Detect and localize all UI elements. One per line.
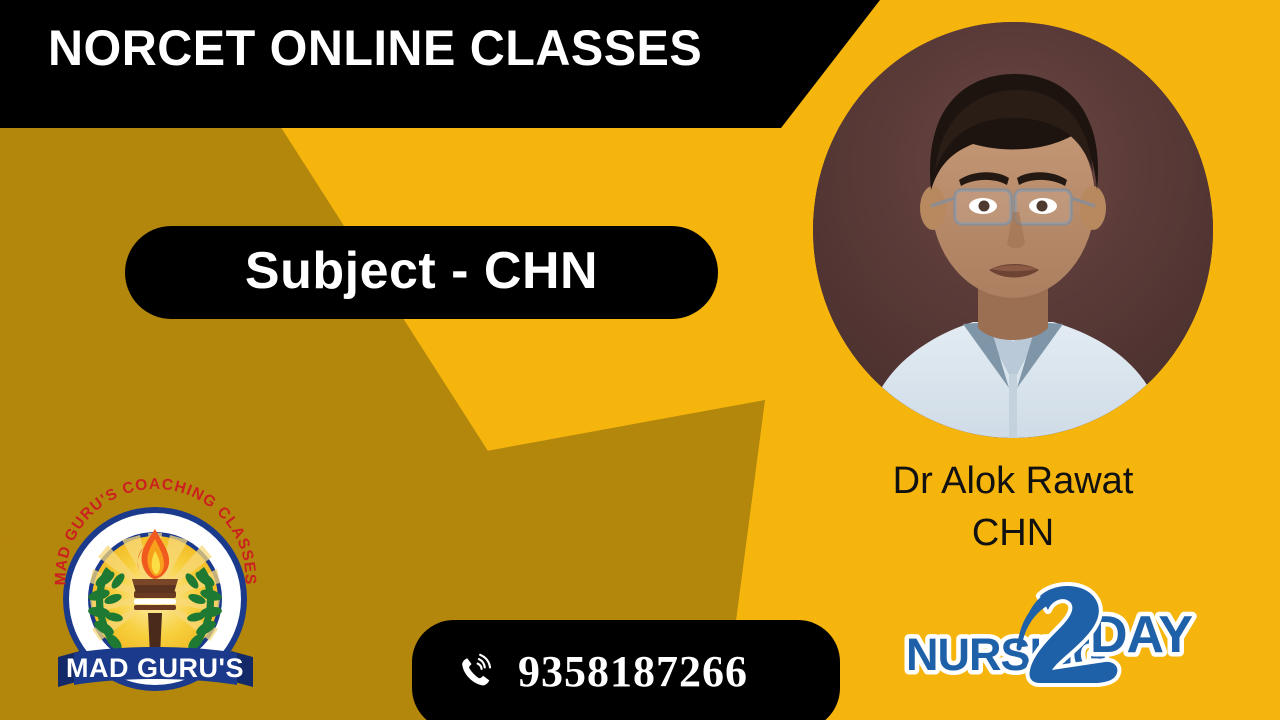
- logo-ribbon: MAD GURU'S: [58, 647, 253, 687]
- subject-badge: Subject - CHN: [125, 226, 718, 319]
- logo-word-right: DAY: [1090, 606, 1192, 664]
- promo-banner: NORCET ONLINE CLASSES Subject - CHN: [0, 0, 1280, 720]
- instructor-subject: CHN: [813, 507, 1213, 559]
- instructor-photo: [813, 22, 1213, 438]
- nursing2day-logo: NURSING DAY: [900, 578, 1215, 693]
- instructor-name: Dr Alok Rawat: [813, 455, 1213, 507]
- phone-call-icon: [456, 652, 496, 692]
- phone-number: 9358187266: [518, 646, 748, 697]
- portrait-illustration: [813, 22, 1213, 438]
- subject-label: Subject - CHN: [245, 241, 598, 301]
- page-title: NORCET ONLINE CLASSES: [48, 20, 702, 76]
- mad-gurus-logo: MAD GURU'S COACHING CLASSES: [48, 495, 263, 710]
- instructor-caption: Dr Alok Rawat CHN: [813, 455, 1213, 559]
- phone-contact-badge[interactable]: 9358187266: [412, 620, 840, 720]
- logo-ribbon-text: MAD GURU'S: [66, 653, 244, 683]
